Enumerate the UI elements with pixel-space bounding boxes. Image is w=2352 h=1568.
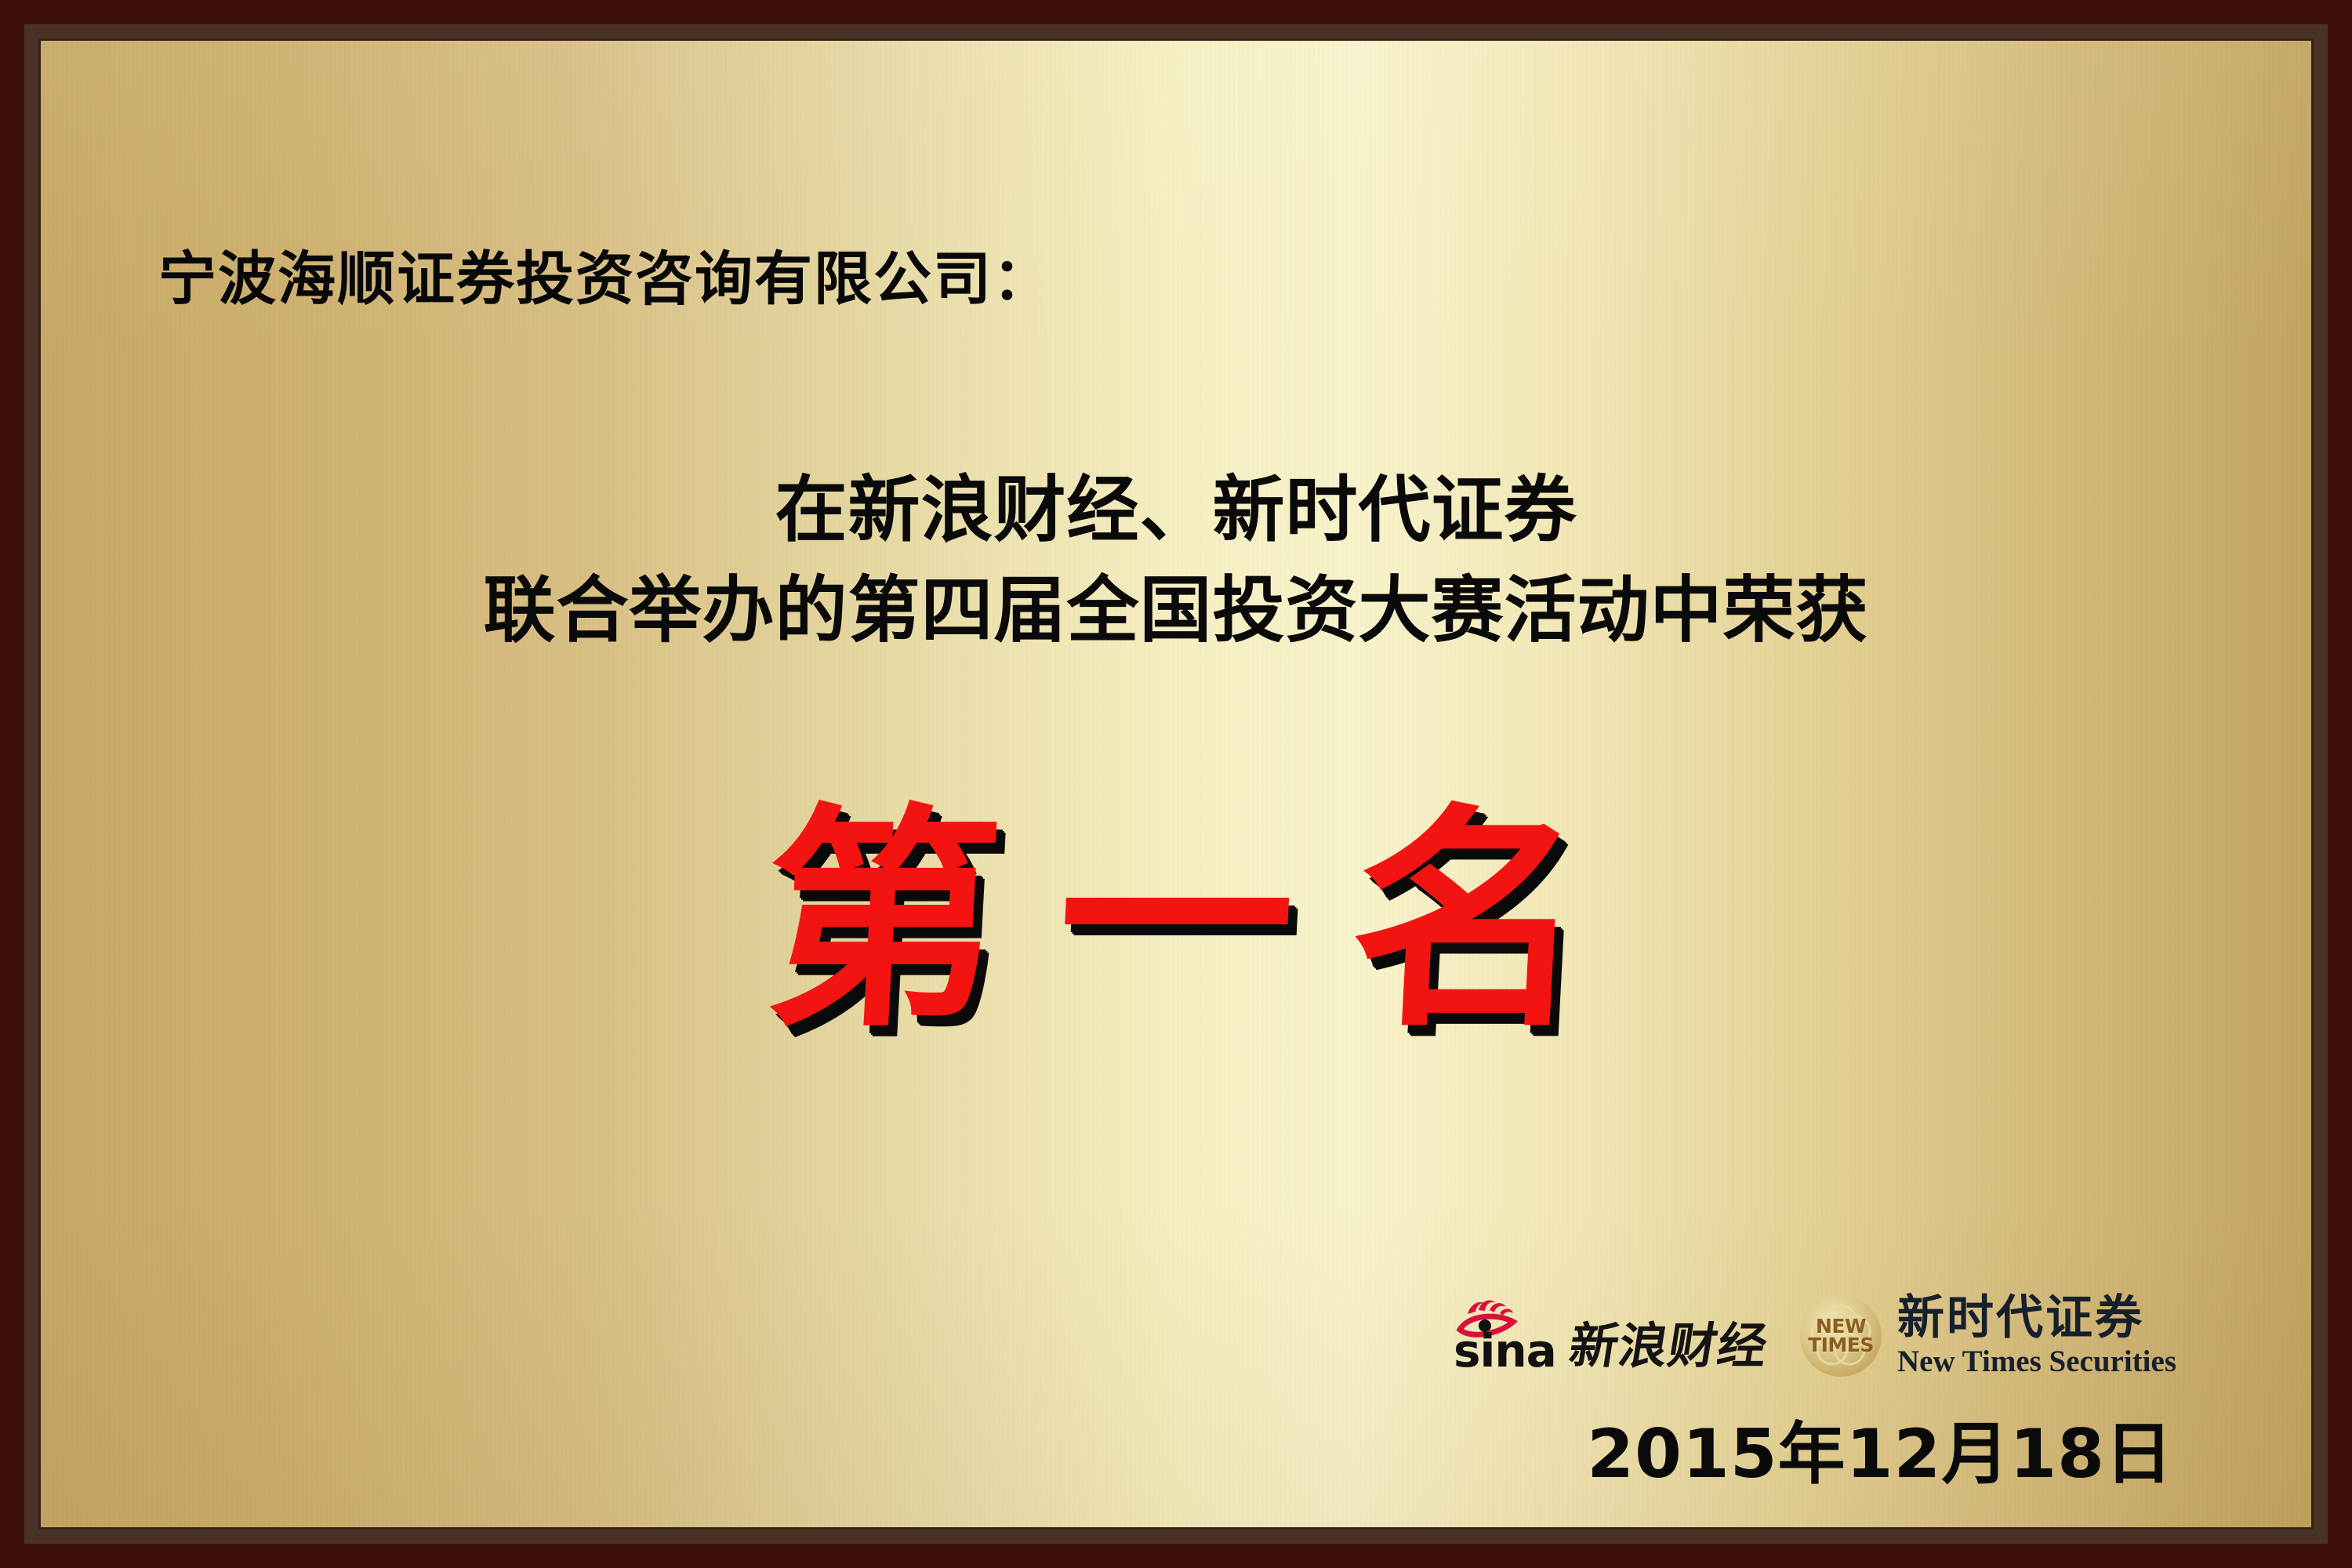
emblem-line-2: TIMES — [1808, 1336, 1874, 1355]
sina-wordmark-cn: 新浪财经 — [1566, 1322, 1771, 1374]
citation-line-2: 联合举办的第四届全国投资大赛活动中荣获 — [41, 564, 2311, 657]
plaque-frame-middle: 宁波海顺证券投资咨询有限公司： 在新浪财经、新时代证券 联合举办的第四届全国投资… — [24, 24, 2328, 1544]
sponsor-logos: sina 新浪财经 — [1454, 1294, 2176, 1378]
addressee-line: 宁波海顺证券投资咨询有限公司： — [158, 251, 1052, 309]
new-times-wordmark-en: New Times Securities — [1897, 1346, 2176, 1378]
logo-sina-finance: sina 新浪财经 — [1454, 1298, 1767, 1374]
new-times-wordmarks: 新时代证券 New Times Securities — [1897, 1294, 2176, 1378]
award-rank-text: 第一名 — [701, 793, 1652, 1047]
plaque-frame-hairline: 宁波海顺证券投资咨询有限公司： 在新浪财经、新时代证券 联合举办的第四届全国投资… — [38, 38, 2314, 1530]
issue-date: 2015年12月18日 — [1587, 1421, 2173, 1488]
award-plaque: 宁波海顺证券投资咨询有限公司： 在新浪财经、新时代证券 联合举办的第四届全国投资… — [0, 0, 2352, 1568]
award-rank-container: 第一名 — [41, 793, 2311, 1123]
new-times-wordmark-cn: 新时代证券 — [1897, 1294, 2176, 1343]
emblem-wordmark: NEW TIMES — [1800, 1295, 1882, 1377]
logo-new-times-securities: NEW TIMES 新时代证券 New Times Securities — [1800, 1294, 2176, 1378]
new-times-circle-emblem-icon: NEW TIMES — [1800, 1295, 1882, 1377]
citation-line-1: 在新浪财经、新时代证券 — [41, 464, 2311, 557]
gold-panel: 宁波海顺证券投资咨询有限公司： 在新浪财经、新时代证券 联合举办的第四届全国投资… — [41, 41, 2311, 1527]
citation-body: 在新浪财经、新时代证券 联合举办的第四届全国投资大赛活动中荣获 — [41, 464, 2311, 657]
sina-logo-mark: sina — [1454, 1298, 1557, 1374]
plaque-content: 宁波海顺证券投资咨询有限公司： 在新浪财经、新时代证券 联合举办的第四届全国投资… — [41, 41, 2311, 1527]
sina-wordmark-latin: sina — [1454, 1328, 1556, 1374]
